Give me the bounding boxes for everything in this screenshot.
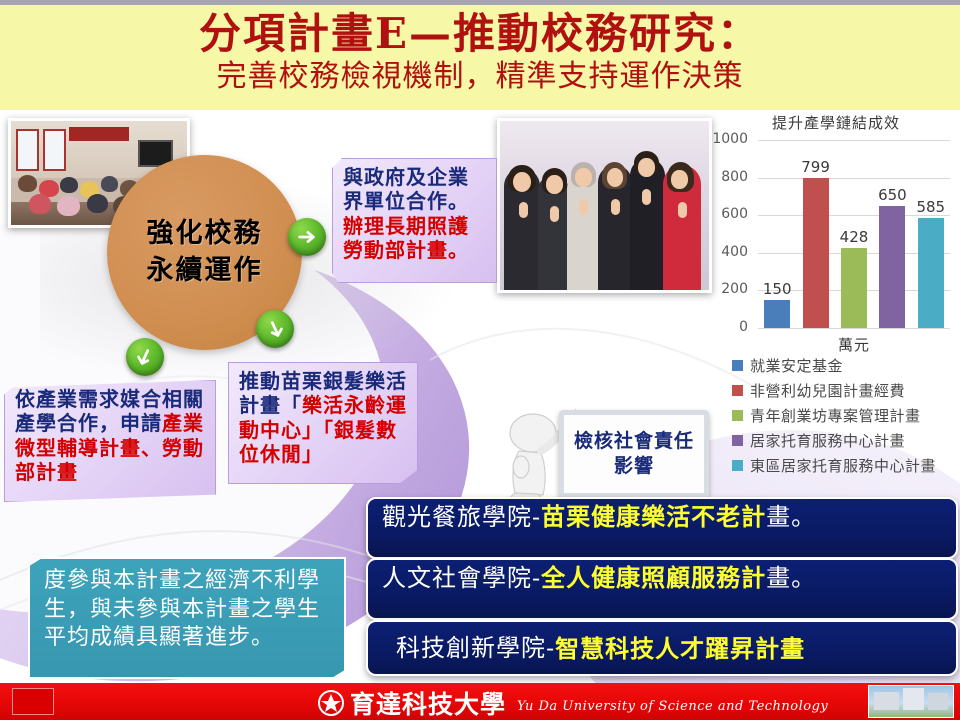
chart-ytick-label: 1000 (702, 131, 748, 147)
chart-legend-label: 就業安定基金 (750, 355, 843, 376)
chart-title: 提升產學鏈結成效 (712, 112, 960, 133)
navy-1-program: 苗栗健康樂活不老計 (541, 502, 766, 531)
chart-legend-item[interactable]: 就業安定基金 (732, 355, 960, 376)
chart-plot-area: 02004006008001000150799428650585 (758, 140, 950, 328)
chart-bar (764, 300, 790, 328)
chart-legend-label: 青年創業坊專案管理計畫 (750, 405, 921, 426)
navy-3-college: 科技創新學院- (396, 634, 555, 663)
chart-ytick-label: 200 (702, 281, 748, 297)
chart-bar-value-label: 150 (755, 280, 799, 298)
social-responsibility-group: 檢核社會責任 影響 (497, 405, 712, 510)
chart-legend-item[interactable]: 居家托育服務中心計畫 (732, 430, 960, 451)
student-outcome-box[interactable]: 度參與本計畫之經濟不利學生，與未參與本計畫之學生平均成績具顯著進步。 (28, 557, 346, 679)
whiteboard-panel[interactable]: 檢核社會責任 影響 (559, 410, 709, 498)
core-line-2: 永續運作 (147, 253, 263, 289)
chart-legend-label: 東區居家托育服務中心計畫 (750, 455, 936, 476)
page-title: 分項計畫E—推動校務研究： (0, 9, 960, 59)
chart-bar (918, 218, 944, 328)
slide-root: 分項計畫E—推動校務研究： 完善校務檢視機制，精準支持運作決策 (0, 0, 960, 720)
chart-legend: 就業安定基金非營利幼兒園計畫經費青年創業坊專案管理計畫居家托育服務中心計畫東區居… (732, 355, 960, 480)
callout-industry-matching[interactable]: 依產業需求媒合相關產學合作，申請產業微型輔導計畫、勞動部計畫 (4, 380, 216, 502)
chart-gridline (758, 328, 950, 329)
navy-1-college: 觀光餐旅學院- (382, 503, 541, 531)
navy-2-program: 全人健康照顧服務計 (541, 563, 766, 592)
chart-legend-swatch (732, 435, 743, 446)
board-line-1: 檢核社會責任 (574, 429, 694, 454)
footer-bar: 育達科技大學 Yu Da University of Science and T… (0, 683, 960, 720)
chart-bar-value-label: 428 (832, 228, 876, 246)
chart-legend-item[interactable]: 東區居家托育服務中心計畫 (732, 455, 960, 476)
arrow-right-icon[interactable] (288, 218, 326, 256)
chart-legend-item[interactable]: 青年創業坊專案管理計畫 (732, 405, 960, 426)
chart-legend-label: 居家托育服務中心計畫 (750, 430, 905, 451)
page-subtitle: 完善校務檢視機制，精準支持運作決策 (0, 59, 960, 95)
chart-ytick-label: 800 (702, 169, 748, 185)
chart-legend-swatch (732, 385, 743, 396)
campus-photo (868, 685, 954, 718)
group-photo (497, 118, 712, 293)
chart-ytick-label: 400 (702, 244, 748, 260)
college-program-row-3[interactable]: 科技創新學院-智慧科技人才躍昇計畫 (366, 620, 958, 676)
navy-2-tail: 畫。 (766, 564, 816, 592)
chart-bar (879, 206, 905, 328)
chart-legend-label: 非營利幼兒園計畫經費 (750, 380, 905, 401)
footer-en-name: Yu Da University of Science and Technolo… (517, 699, 828, 714)
navy-1-tail: 畫。 (766, 503, 816, 531)
chart-ytick-label: 600 (702, 206, 748, 222)
logo-mark-icon (318, 690, 344, 716)
chart-legend-swatch (732, 460, 743, 471)
footer-cn-name: 育達科技大學 (350, 685, 506, 720)
navy-2-college: 人文社會學院- (382, 564, 541, 592)
chart-gridline (758, 178, 950, 179)
arrow-down-right-icon[interactable] (256, 310, 294, 348)
board-line-2: 影響 (614, 454, 654, 479)
core-line-1: 強化校務 (147, 216, 263, 252)
chart-bar-value-label: 585 (909, 198, 953, 216)
callout-gov-navy-text: 與政府及企業界單位合作。 (343, 165, 469, 213)
chart-xaxis-label: 萬元 (758, 334, 950, 355)
callout-government-cooperation[interactable]: 與政府及企業界單位合作。 辦理長期照護勞動部計畫。 (332, 158, 497, 283)
college-program-row-1[interactable]: 觀光餐旅學院-苗栗健康樂活不老計畫。 (366, 497, 958, 559)
chart-legend-item[interactable]: 非營利幼兒園計畫經費 (732, 380, 960, 401)
chart-bar-value-label: 650 (870, 186, 914, 204)
chart-bar (841, 248, 867, 328)
callout-gov-red-text: 辦理長期照護勞動部計畫。 (343, 214, 469, 262)
chart-bar (803, 178, 829, 328)
university-logo: 育達科技大學 Yu Da University of Science and T… (318, 685, 828, 720)
college-program-row-2[interactable]: 人文社會學院-全人健康照顧服務計畫。 (366, 558, 958, 620)
arrow-down-left-icon[interactable] (126, 338, 164, 376)
chart-legend-swatch (732, 360, 743, 371)
chart-ytick-label: 0 (702, 319, 748, 335)
chart-legend-swatch (732, 410, 743, 421)
chart-gridline (758, 140, 950, 141)
chart-bar-value-label: 799 (794, 158, 838, 176)
header-banner: 分項計畫E—推動校務研究： 完善校務檢視機制，精準支持運作決策 (0, 5, 960, 110)
footer-red-block (12, 688, 54, 715)
industry-linkage-chart: 提升產學鏈結成效 0200400600800100015079942865058… (712, 112, 960, 480)
callout-silver-program[interactable]: 推動苗栗銀髮樂活計畫「樂活永齡運動中心」「銀髮數位休閒」 (228, 362, 418, 484)
navy-3-program: 智慧科技人才躍昇計畫 (555, 634, 805, 663)
